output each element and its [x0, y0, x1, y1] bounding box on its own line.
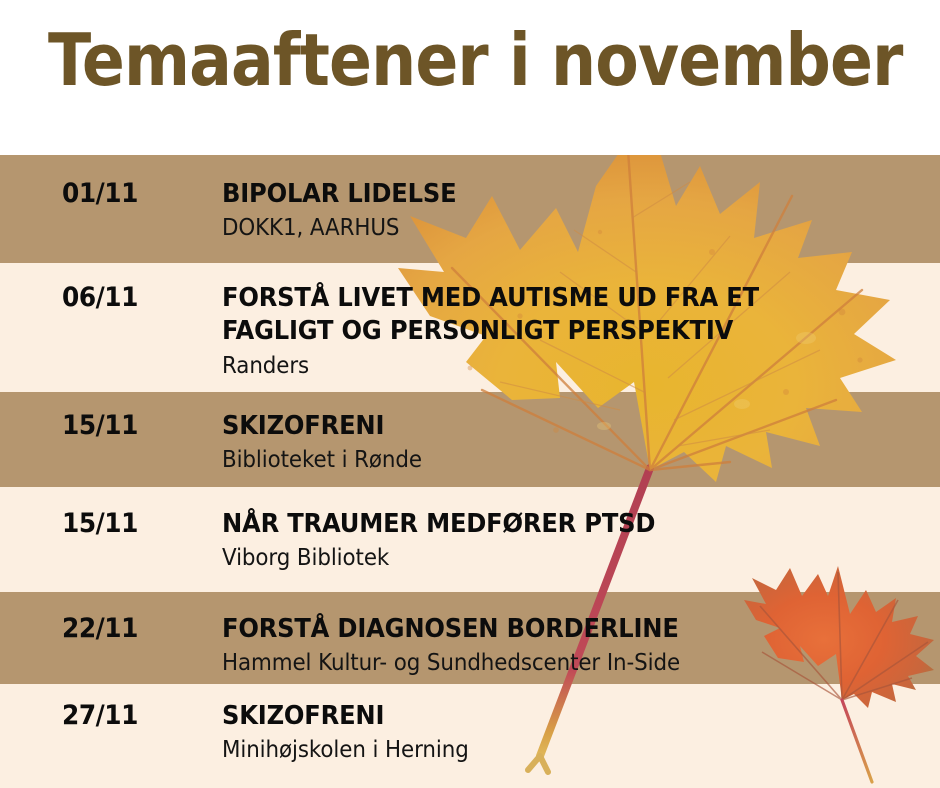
event-venue: Viborg Bibliotek [222, 544, 655, 573]
event-venue: Biblioteket i Rønde [222, 446, 422, 475]
event-title: SKIZOFRENI [222, 700, 469, 733]
page-title: Temaaftener i november [48, 24, 902, 96]
event-venue: DOKK1, AARHUS [222, 214, 456, 243]
event-date: 27/11 [62, 700, 138, 731]
event-body: BIPOLAR LIDELSE DOKK1, AARHUS [222, 178, 474, 243]
event-title: FORSTÅ DIAGNOSEN BORDERLINE [222, 613, 680, 646]
event-body: NÅR TRAUMER MEDFØRER PTSD Viborg Bibliot… [222, 508, 688, 573]
event-date: 15/11 [62, 410, 138, 441]
event-title: BIPOLAR LIDELSE [222, 178, 456, 211]
event-title: FORSTÅ LIVET MED AUTISME UD FRA ET [222, 282, 759, 315]
poster-header: Temaaftener i november [0, 0, 940, 155]
event-body: FORSTÅ LIVET MED AUTISME UD FRA ET FAGLI… [222, 282, 799, 380]
event-title: SKIZOFRENI [222, 410, 422, 443]
event-date: 06/11 [62, 282, 138, 313]
event-body: FORSTÅ DIAGNOSEN BORDERLINE Hammel Kultu… [222, 613, 715, 678]
event-venue: Hammel Kultur- og Sundhedscenter In-Side [222, 649, 680, 678]
event-date: 15/11 [62, 508, 138, 539]
event-body: SKIZOFRENI Biblioteket i Rønde [222, 410, 437, 475]
event-date: 22/11 [62, 613, 138, 644]
event-title: NÅR TRAUMER MEDFØRER PTSD [222, 508, 655, 541]
event-venue: Minihøjskolen i Herning [222, 736, 469, 765]
event-body: SKIZOFRENI Minihøjskolen i Herning [222, 700, 487, 765]
event-venue: Randers [222, 352, 759, 381]
poster-canvas: Temaaftener i november 01/11 BIPOLAR LID… [0, 0, 940, 788]
event-date: 01/11 [62, 178, 138, 209]
event-title-line2: FAGLIGT OG PERSONLIGT PERSPEKTIV [222, 315, 759, 348]
